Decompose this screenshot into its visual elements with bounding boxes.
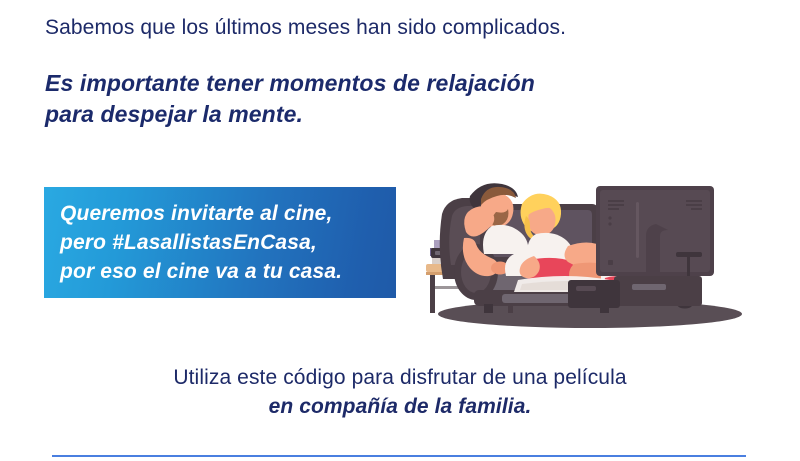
callout-line-2: pero #LasallistasEnCasa, bbox=[60, 228, 396, 257]
callout-line-1: Queremos invitarte al cine, bbox=[60, 199, 396, 228]
media-console-icon bbox=[568, 276, 702, 308]
outro-text: Utiliza este código para disfrutar de un… bbox=[0, 363, 800, 421]
family-watching-tv-illustration bbox=[418, 168, 758, 340]
callout-text: Queremos invitarte al cine, pero #Lasall… bbox=[60, 199, 396, 286]
headline-line-1: Es importante tener momentos de relajaci… bbox=[45, 68, 535, 99]
headline: Es importante tener momentos de relajaci… bbox=[45, 68, 535, 130]
flyer-page: Sabemos que los últimos meses han sido c… bbox=[0, 0, 800, 461]
intro-text: Sabemos que los últimos meses han sido c… bbox=[45, 14, 566, 42]
headline-line-2: para despejar la mente. bbox=[45, 99, 535, 130]
bottom-divider bbox=[52, 455, 746, 457]
outro-line-2: en compañía de la familia. bbox=[0, 392, 800, 421]
callout-line-3: por eso el cine va a tu casa. bbox=[60, 257, 396, 286]
outro-line-1: Utiliza este código para disfrutar de un… bbox=[0, 363, 800, 392]
callout-banner: Queremos invitarte al cine, pero #Lasall… bbox=[44, 187, 396, 298]
